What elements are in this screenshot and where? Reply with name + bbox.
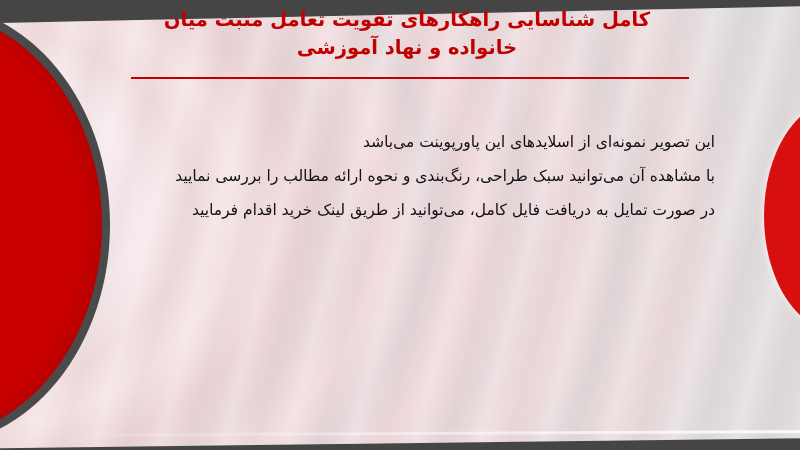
body-line-3: در صورت تمایل به دریافت فایل کامل، می‌تو… bbox=[95, 193, 715, 227]
presentation-slide: کامل شناسایی راهکارهای تقویت تعامل مثبت … bbox=[0, 0, 800, 450]
title-underline-rule bbox=[131, 77, 689, 79]
slide-body-text: این تصویر نمونه‌ای از اسلایدهای این پاور… bbox=[95, 125, 715, 227]
slide-title: کامل شناسایی راهکارهای تقویت تعامل مثبت … bbox=[118, 6, 696, 62]
slide-title-line-2: خانواده و نهاد آموزشی bbox=[118, 34, 696, 62]
body-line-1: این تصویر نمونه‌ای از اسلایدهای این پاور… bbox=[95, 125, 715, 159]
slide-title-line-1: کامل شناسایی راهکارهای تقویت تعامل مثبت … bbox=[118, 6, 696, 34]
body-line-2: با مشاهده آن می‌توانید سبک طراحی، رنگ‌بن… bbox=[95, 159, 715, 193]
